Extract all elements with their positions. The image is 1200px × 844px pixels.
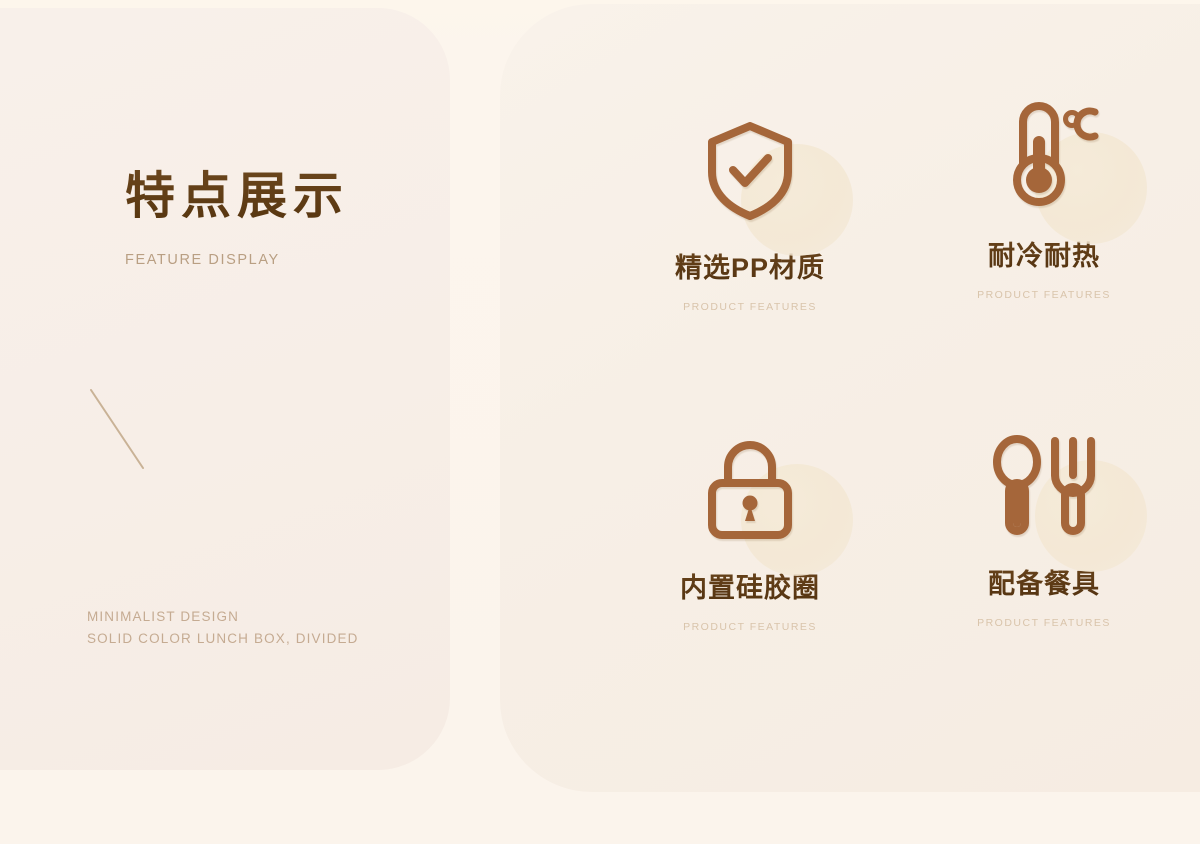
feature-caption: PRODUCT FEATURES xyxy=(683,621,817,633)
page-root: 特点展示 FEATURE DISPLAY MINIMALIST DESIGN S… xyxy=(0,0,1200,844)
feature-caption: PRODUCT FEATURES xyxy=(977,617,1111,629)
padlock-icon xyxy=(702,439,798,541)
intro-footer-text: MINIMALIST DESIGN SOLID COLOR LUNCH BOX,… xyxy=(87,606,359,651)
spoon-fork-icon xyxy=(989,435,1099,537)
footer-line-1: MINIMALIST DESIGN xyxy=(87,606,359,628)
feature-card-silicone-ring: 内置硅胶圈 PRODUCT FEATURES xyxy=(614,420,886,714)
thermometer-celsius-icon xyxy=(989,102,1099,214)
diagonal-line-icon xyxy=(89,386,181,470)
icon-wrap xyxy=(959,416,1129,556)
page-subtitle: FEATURE DISPLAY xyxy=(125,252,425,268)
feature-grid: 精选PP材质 PRODUCT FEATURES xyxy=(500,4,1200,792)
icon-wrap xyxy=(959,88,1129,228)
icon-wrap xyxy=(665,420,835,560)
feature-card-utensils-included: 配备餐具 PRODUCT FEATURES xyxy=(908,416,1180,710)
icon-wrap xyxy=(665,100,835,240)
footer-line-2: SOLID COLOR LUNCH BOX, DIVIDED xyxy=(87,628,359,650)
page-title: 特点展示 xyxy=(125,168,425,226)
left-intro-panel: 特点展示 FEATURE DISPLAY MINIMALIST DESIGN S… xyxy=(0,8,450,770)
feature-card-temperature-resistant: 耐冷耐热 PRODUCT FEATURES xyxy=(908,88,1180,382)
intro-heading-block: 特点展示 FEATURE DISPLAY xyxy=(125,168,425,268)
feature-caption: PRODUCT FEATURES xyxy=(977,289,1111,301)
feature-card-pp-material: 精选PP材质 PRODUCT FEATURES xyxy=(614,100,886,394)
shield-check-icon xyxy=(704,120,796,220)
feature-caption: PRODUCT FEATURES xyxy=(683,301,817,313)
